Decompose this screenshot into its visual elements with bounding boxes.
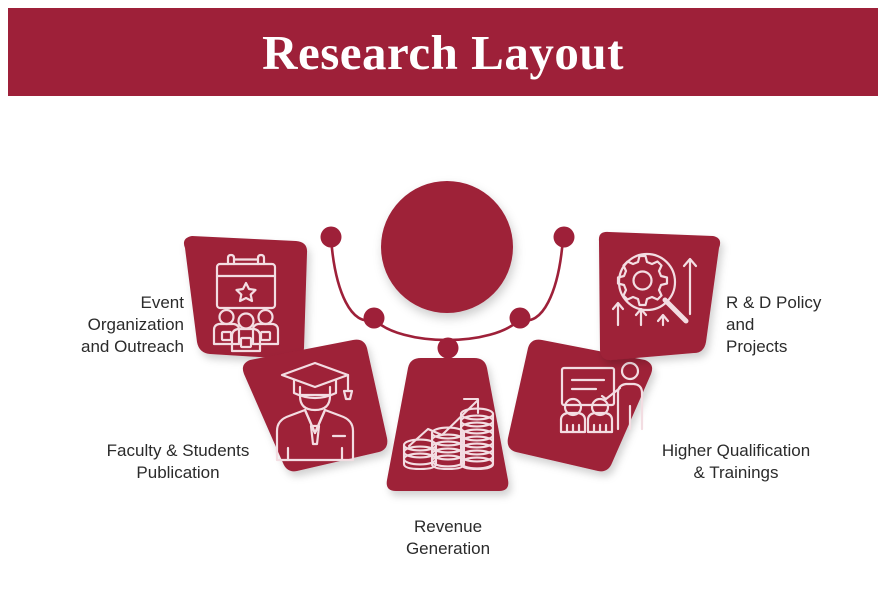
petal-higher-qualification[interactable] — [508, 340, 652, 472]
petal-label-faculty-publication: Faculty & Students Publication — [78, 440, 278, 484]
petal-revenue-generation[interactable] — [387, 358, 509, 491]
diagram-canvas: Event Organization and Outreach Faculty … — [0, 96, 888, 589]
petal-label-higher-qualification: Higher Qualification & Trainings — [634, 440, 838, 484]
center-circle — [381, 181, 513, 313]
petal-event-organization[interactable] — [184, 236, 307, 359]
petal-rnd-policy[interactable] — [599, 232, 720, 360]
connector-dot-4 — [510, 308, 531, 329]
arc-connector-left — [331, 238, 374, 320]
connector-dot-3 — [438, 338, 459, 359]
petal-label-event-organization: Event Organization and Outreach — [0, 292, 184, 357]
petal-label-rnd-policy: R & D Policy and Projects — [726, 292, 886, 357]
page-title: Research Layout — [262, 28, 624, 77]
petal-label-revenue-generation: Revenue Generation — [368, 516, 528, 560]
connector-dot-1 — [321, 227, 342, 248]
header-banner: Research Layout — [8, 8, 878, 96]
connector-dot-5 — [554, 227, 575, 248]
arc-connector-mid — [374, 319, 520, 340]
connector-dot-2 — [364, 308, 385, 329]
arc-connector-right — [520, 238, 563, 320]
